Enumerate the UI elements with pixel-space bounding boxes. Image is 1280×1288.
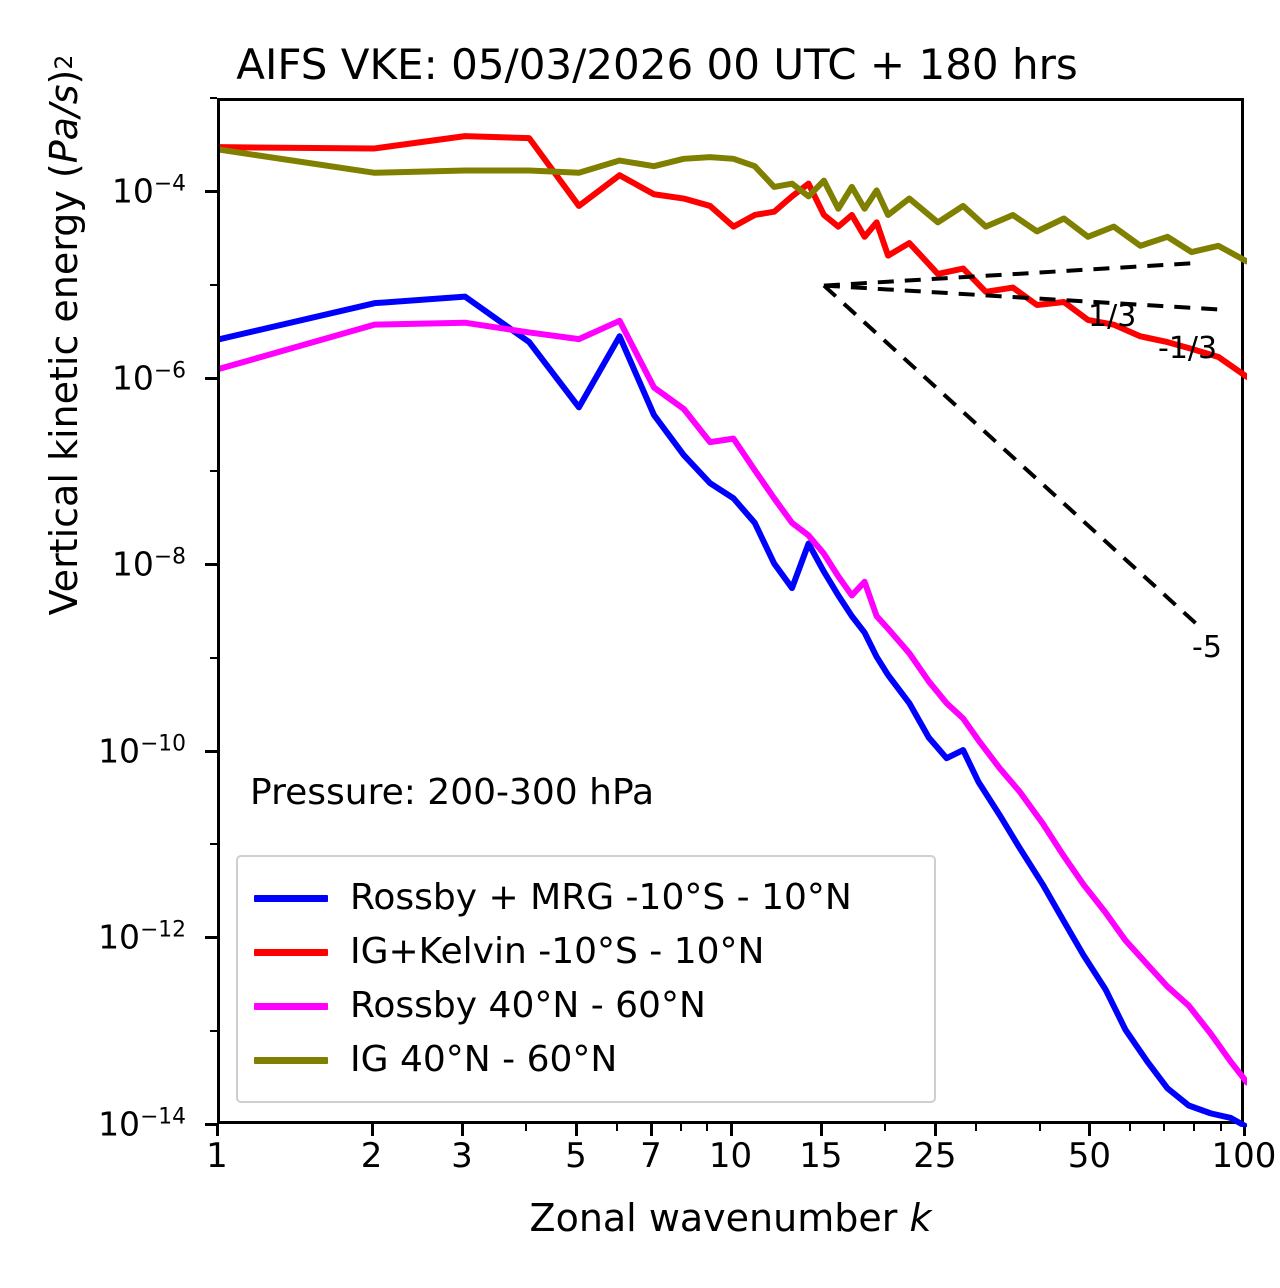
figure-canvas: AIFS VKE: 05/03/2026 00 UTC + 180 hrs Ve… bbox=[0, 0, 1280, 1288]
legend-item-2[interactable]: Rossby 40°N - 60°N bbox=[254, 979, 914, 1033]
y-minor-tick bbox=[210, 97, 217, 99]
x-tick-label-1: 2 bbox=[361, 1136, 383, 1176]
slope-label-upper: 1/3 bbox=[1088, 299, 1136, 334]
y-axis-label-exponent: 2 bbox=[50, 55, 78, 70]
y-tick-mark-1 bbox=[205, 377, 217, 380]
x-axis-label: Zonal wavenumber k bbox=[217, 1196, 1244, 1240]
y-tick-mark-3 bbox=[205, 750, 217, 753]
legend-item-1[interactable]: IG+Kelvin -10°S - 10°N bbox=[254, 925, 914, 979]
pressure-annotation: Pressure: 200-300 hPa bbox=[250, 772, 654, 813]
slope-label-middle: -1/3 bbox=[1158, 331, 1217, 366]
x-axis-label-text: Zonal wavenumber bbox=[530, 1196, 898, 1240]
y-minor-tick bbox=[210, 843, 217, 845]
x-tick-label-5: 10 bbox=[709, 1136, 752, 1176]
y-tick-label-2: 10−8 bbox=[112, 545, 186, 584]
y-minor-tick bbox=[210, 1030, 217, 1032]
y-axis-label-units: Pa/s bbox=[42, 84, 86, 163]
reference-line-0 bbox=[824, 263, 1192, 285]
legend-color-swatch-1 bbox=[254, 949, 328, 956]
legend[interactable]: Rossby + MRG -10°S - 10°NIG+Kelvin -10°S… bbox=[236, 855, 936, 1103]
x-tick-mark-0 bbox=[216, 1124, 219, 1136]
y-tick-label-0: 10−4 bbox=[112, 172, 186, 211]
y-tick-label-3: 10−10 bbox=[98, 731, 186, 770]
legend-label-0: Rossby + MRG -10°S - 10°N bbox=[350, 880, 852, 916]
y-minor-tick bbox=[210, 470, 217, 472]
legend-label-2: Rossby 40°N - 60°N bbox=[350, 988, 706, 1024]
y-minor-tick bbox=[210, 657, 217, 659]
legend-label-1: IG+Kelvin -10°S - 10°N bbox=[350, 934, 764, 970]
legend-color-swatch-3 bbox=[254, 1057, 328, 1064]
y-axis-label-post: ) bbox=[42, 70, 86, 85]
legend-item-0[interactable]: Rossby + MRG -10°S - 10°N bbox=[254, 871, 914, 925]
x-tick-label-9: 100 bbox=[1212, 1136, 1277, 1176]
y-tick-label-5: 10−14 bbox=[98, 1105, 186, 1144]
series-line-3 bbox=[220, 150, 1247, 262]
y-tick-label-1: 10−6 bbox=[112, 358, 186, 397]
y-minor-tick bbox=[210, 284, 217, 286]
x-tick-label-4: 7 bbox=[640, 1136, 662, 1176]
legend-color-swatch-0 bbox=[254, 895, 328, 902]
x-tick-label-0: 1 bbox=[206, 1136, 228, 1176]
slope-label-lower: -5 bbox=[1192, 630, 1222, 665]
reference-lines-layer bbox=[824, 263, 1219, 629]
x-tick-label-7: 25 bbox=[913, 1136, 956, 1176]
legend-color-swatch-2 bbox=[254, 1003, 328, 1010]
y-tick-mark-4 bbox=[205, 936, 217, 939]
reference-line-1 bbox=[824, 286, 1219, 310]
y-tick-mark-2 bbox=[205, 563, 217, 566]
y-axis-label-pre: Vertical kinetic energy ( bbox=[42, 163, 86, 615]
x-tick-label-6: 15 bbox=[799, 1136, 842, 1176]
page-title: AIFS VKE: 05/03/2026 00 UTC + 180 hrs bbox=[0, 40, 1280, 89]
x-axis-label-symbol: k bbox=[909, 1196, 931, 1240]
y-tick-label-4: 10−12 bbox=[98, 918, 186, 957]
legend-label-3: IG 40°N - 60°N bbox=[350, 1042, 617, 1078]
y-axis-label: Vertical kinetic energy (Pa/s)2 bbox=[34, 0, 94, 685]
legend-item-3[interactable]: IG 40°N - 60°N bbox=[254, 1033, 914, 1087]
y-tick-mark-0 bbox=[205, 190, 217, 193]
x-tick-label-2: 3 bbox=[451, 1136, 473, 1176]
x-tick-label-8: 50 bbox=[1068, 1136, 1111, 1176]
x-tick-label-3: 5 bbox=[565, 1136, 587, 1176]
